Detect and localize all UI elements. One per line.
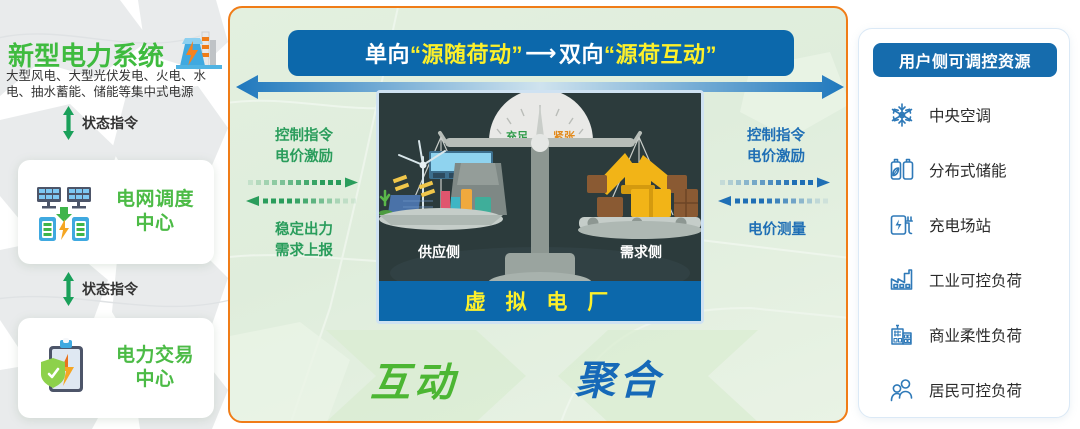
user-side-resources-header: 用户侧可调控资源	[873, 43, 1057, 77]
left-control-labels: 控制指令 电价激励	[244, 126, 364, 168]
resource-label: 工业可控负荷	[929, 269, 1022, 291]
resource-item-ev-charging[interactable]: 充电场站	[859, 197, 1069, 252]
right-feedback-labels: 电价测量	[722, 220, 832, 241]
user-side-resources-list: 中央空调 分布式储能 充电场	[859, 87, 1069, 417]
left-label-demand-report: 需求上报	[275, 243, 333, 259]
office-building-icon	[887, 322, 917, 348]
resource-item-residential-load[interactable]: 居民可控负荷	[859, 362, 1069, 417]
resource-label: 中央空调	[929, 104, 991, 126]
people-icon	[887, 377, 917, 403]
power-trading-center-card[interactable]: 电力交易中心	[18, 318, 214, 418]
left-feedback-labels: 稳定出力 需求上报	[244, 220, 364, 262]
left-label-control-command: 控制指令	[275, 128, 333, 144]
status-command-label-2: 状态指令	[82, 279, 138, 299]
banner-quote-1: “源随荷动”	[410, 37, 523, 69]
word-interaction: 互动	[370, 350, 458, 408]
banner-arrow-icon: ⟶	[525, 40, 557, 66]
battery-leaf-icon	[887, 157, 917, 183]
resource-label: 分布式储能	[929, 159, 1007, 181]
demand-side-label: 需求侧	[620, 244, 662, 261]
virtual-power-plant-illustration: 充足 紧张	[376, 90, 704, 324]
resource-item-commercial-load[interactable]: 商业柔性负荷	[859, 307, 1069, 362]
status-command-1: 状态指令	[62, 106, 138, 140]
status-command-2: 状态指令	[62, 272, 138, 306]
vertical-double-arrow-icon	[62, 106, 75, 140]
right-label-price-incentive: 电价激励	[747, 149, 805, 165]
banner-middle: 双向	[559, 37, 604, 69]
ev-charger-icon	[887, 212, 917, 238]
resource-item-central-ac[interactable]: 中央空调	[859, 87, 1069, 142]
banner-title: 单向“源随荷动”⟶双向“源荷互动”	[288, 30, 794, 76]
resource-label: 商业柔性负荷	[929, 324, 1022, 346]
right-label-price-measure: 电价测量	[748, 222, 806, 238]
status-command-label-1: 状态指令	[82, 113, 138, 133]
user-side-resources-panel: 用户侧可调控资源 中央空调	[858, 28, 1070, 418]
left-label-stable-output: 稳定出力	[275, 222, 333, 238]
clipboard-shield-bolt-icon	[28, 338, 102, 398]
banner-quote-2: “源荷互动”	[604, 37, 717, 69]
resource-item-industrial-load[interactable]: 工业可控负荷	[859, 252, 1069, 307]
vertical-double-arrow-icon	[62, 272, 75, 306]
resource-item-distributed-storage[interactable]: 分布式储能	[859, 142, 1069, 197]
word-aggregation: 聚合	[575, 348, 663, 406]
virtual-power-plant-caption: 虚 拟 电 厂	[379, 281, 701, 321]
left-label-price-incentive: 电价激励	[275, 149, 333, 165]
center-panel: 单向“源随荷动”⟶双向“源荷互动” 控制指令 电价激励	[228, 6, 848, 423]
right-dotted-arrows-icon	[714, 176, 834, 210]
grid-dispatch-center-title: 电网调度中心	[102, 188, 208, 236]
supply-side-label: 供应侧	[417, 244, 460, 261]
left-column: 新型电力系统 大型风电、大型光伏发电、火电、水电、抽水蓄能、储能等集中式电源 状…	[0, 0, 228, 429]
right-control-labels: 控制指令 电价激励	[716, 126, 836, 168]
resource-label: 充电场站	[929, 214, 991, 236]
grid-dispatch-center-card[interactable]: 电网调度中心	[18, 160, 214, 264]
snowflake-icon	[887, 102, 917, 128]
solar-battery-icon	[28, 181, 102, 243]
banner-prefix: 单向	[365, 37, 410, 69]
power-trading-center-title: 电力交易中心	[102, 344, 208, 392]
right-label-control-command: 控制指令	[747, 128, 805, 144]
left-dotted-arrows-icon	[242, 176, 362, 210]
resource-label: 居民可控负荷	[929, 379, 1022, 401]
system-subtitle: 大型风电、大型光伏发电、火电、水电、抽水蓄能、储能等集中式电源	[6, 68, 218, 100]
factory-icon	[887, 267, 917, 293]
